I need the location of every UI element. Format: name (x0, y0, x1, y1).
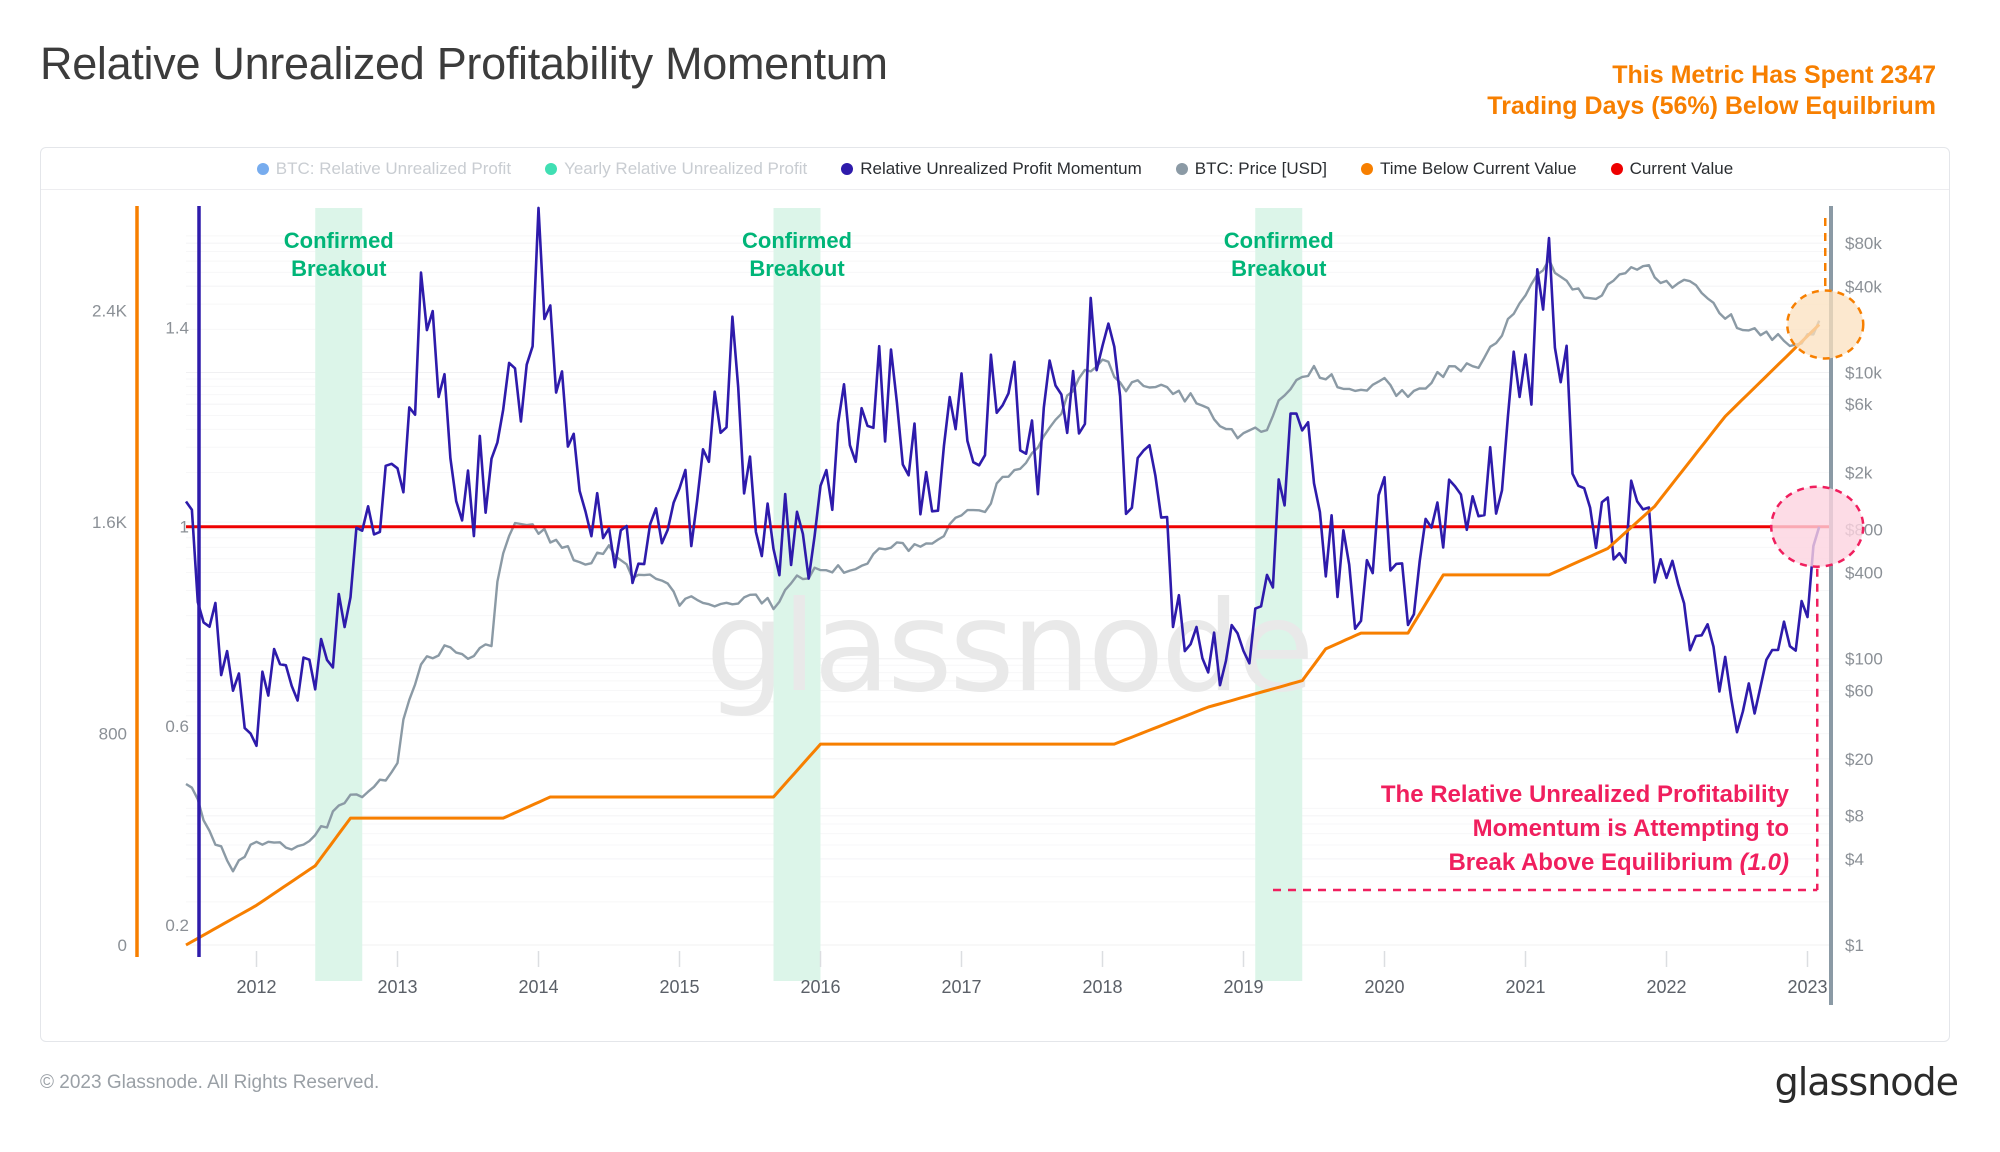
tick-right-12: $1 (1845, 936, 1864, 955)
tick-right-6: $400 (1845, 564, 1883, 583)
xtick-label-7: 2019 (1223, 977, 1263, 997)
xtick-label-3: 2015 (659, 977, 699, 997)
breakout-label2-0: Breakout (291, 256, 387, 281)
tick-left-inner-2: 1 (180, 518, 189, 537)
xtick-label-10: 2022 (1646, 977, 1686, 997)
xtick-label-0: 2012 (236, 977, 276, 997)
time-below-endpoint-highlight (1787, 291, 1863, 359)
chart-page: Relative Unrealized Profitability Moment… (0, 0, 2000, 1152)
tick-left-inner-0: 0.2 (165, 916, 189, 935)
tick-right-7: $100 (1845, 650, 1883, 669)
orange-annotation: This Metric Has Spent 2347 Trading Days … (1487, 60, 1936, 123)
tick-right-3: $6k (1845, 395, 1873, 414)
tick-right-4: $2k (1845, 464, 1873, 483)
series-btc-price (186, 260, 1819, 872)
breakout-label-2: Confirmed (1224, 228, 1334, 253)
tick-right-9: $20 (1845, 750, 1873, 769)
tick-right-2: $10k (1845, 363, 1882, 382)
legend-item-1[interactable]: Yearly Relative Unrealized Profit (545, 159, 807, 179)
legend-item-4[interactable]: Time Below Current Value (1361, 159, 1577, 179)
tick-left-outer-2: 1.6K (92, 513, 128, 532)
legend-dot-icon (257, 163, 269, 175)
xtick-label-1: 2013 (377, 977, 417, 997)
tick-left-outer-0: 0 (118, 936, 127, 955)
legend-label: BTC: Relative Unrealized Profit (276, 159, 511, 179)
xtick-label-4: 2016 (800, 977, 840, 997)
tick-left-inner-1: 0.6 (165, 717, 189, 736)
pink-annotation-line1: The Relative Unrealized Profitability (1381, 781, 1790, 808)
legend-label: Current Value (1630, 159, 1734, 179)
momentum-endpoint-highlight (1771, 487, 1863, 567)
legend-item-0[interactable]: BTC: Relative Unrealized Profit (257, 159, 511, 179)
legend-dot-icon (1361, 163, 1373, 175)
legend-label: BTC: Price [USD] (1195, 159, 1327, 179)
legend-label: Relative Unrealized Profit Momentum (860, 159, 1142, 179)
legend-item-3[interactable]: BTC: Price [USD] (1176, 159, 1327, 179)
orange-annotation-line2: Trading Days (56%) Below Equilbrium (1487, 91, 1936, 122)
xtick-label-11: 2023 (1787, 977, 1827, 997)
page-title: Relative Unrealized Profitability Moment… (40, 38, 888, 90)
breakout-label2-2: Breakout (1231, 256, 1327, 281)
xtick-label-2: 2014 (518, 977, 558, 997)
tick-right-10: $8 (1845, 807, 1864, 826)
tick-right-1: $40k (1845, 277, 1882, 296)
watermark: glassnode (706, 575, 1312, 720)
chart-card: BTC: Relative Unrealized ProfitYearly Re… (40, 147, 1950, 1042)
pink-annotation-line2: Momentum is Attempting to (1473, 815, 1789, 842)
tick-right-0: $80k (1845, 234, 1882, 253)
breakout-label-1: Confirmed (742, 228, 852, 253)
copyright-text: © 2023 Glassnode. All Rights Reserved. (40, 1072, 379, 1094)
legend-dot-icon (1611, 163, 1623, 175)
tick-left-outer-1: 800 (99, 725, 127, 744)
xtick-label-9: 2021 (1505, 977, 1545, 997)
xtick-label-5: 2017 (941, 977, 981, 997)
plot-area: ConfirmedBreakoutConfirmedBreakoutConfir… (41, 190, 1949, 1042)
xtick-label-6: 2018 (1082, 977, 1122, 997)
legend-dot-icon (841, 163, 853, 175)
tick-left-inner-3: 1.4 (165, 319, 189, 338)
tick-left-outer-3: 2.4K (92, 302, 128, 321)
legend-label: Yearly Relative Unrealized Profit (564, 159, 807, 179)
pink-annotation-line3: Break Above Equilibrium (1.0) (1448, 849, 1789, 876)
tick-right-8: $60 (1845, 681, 1873, 700)
legend-label: Time Below Current Value (1380, 159, 1577, 179)
legend-dot-icon (545, 163, 557, 175)
glassnode-logo: glassnode (1775, 1060, 1958, 1104)
chart-svg[interactable]: ConfirmedBreakoutConfirmedBreakoutConfir… (41, 190, 1949, 1042)
breakout-label2-1: Breakout (749, 256, 845, 281)
chart-legend: BTC: Relative Unrealized ProfitYearly Re… (41, 148, 1949, 190)
legend-item-2[interactable]: Relative Unrealized Profit Momentum (841, 159, 1142, 179)
orange-annotation-line1: This Metric Has Spent 2347 (1487, 60, 1936, 91)
breakout-label-0: Confirmed (284, 228, 394, 253)
legend-dot-icon (1176, 163, 1188, 175)
legend-item-5[interactable]: Current Value (1611, 159, 1734, 179)
xtick-label-8: 2020 (1364, 977, 1404, 997)
tick-right-11: $4 (1845, 850, 1864, 869)
